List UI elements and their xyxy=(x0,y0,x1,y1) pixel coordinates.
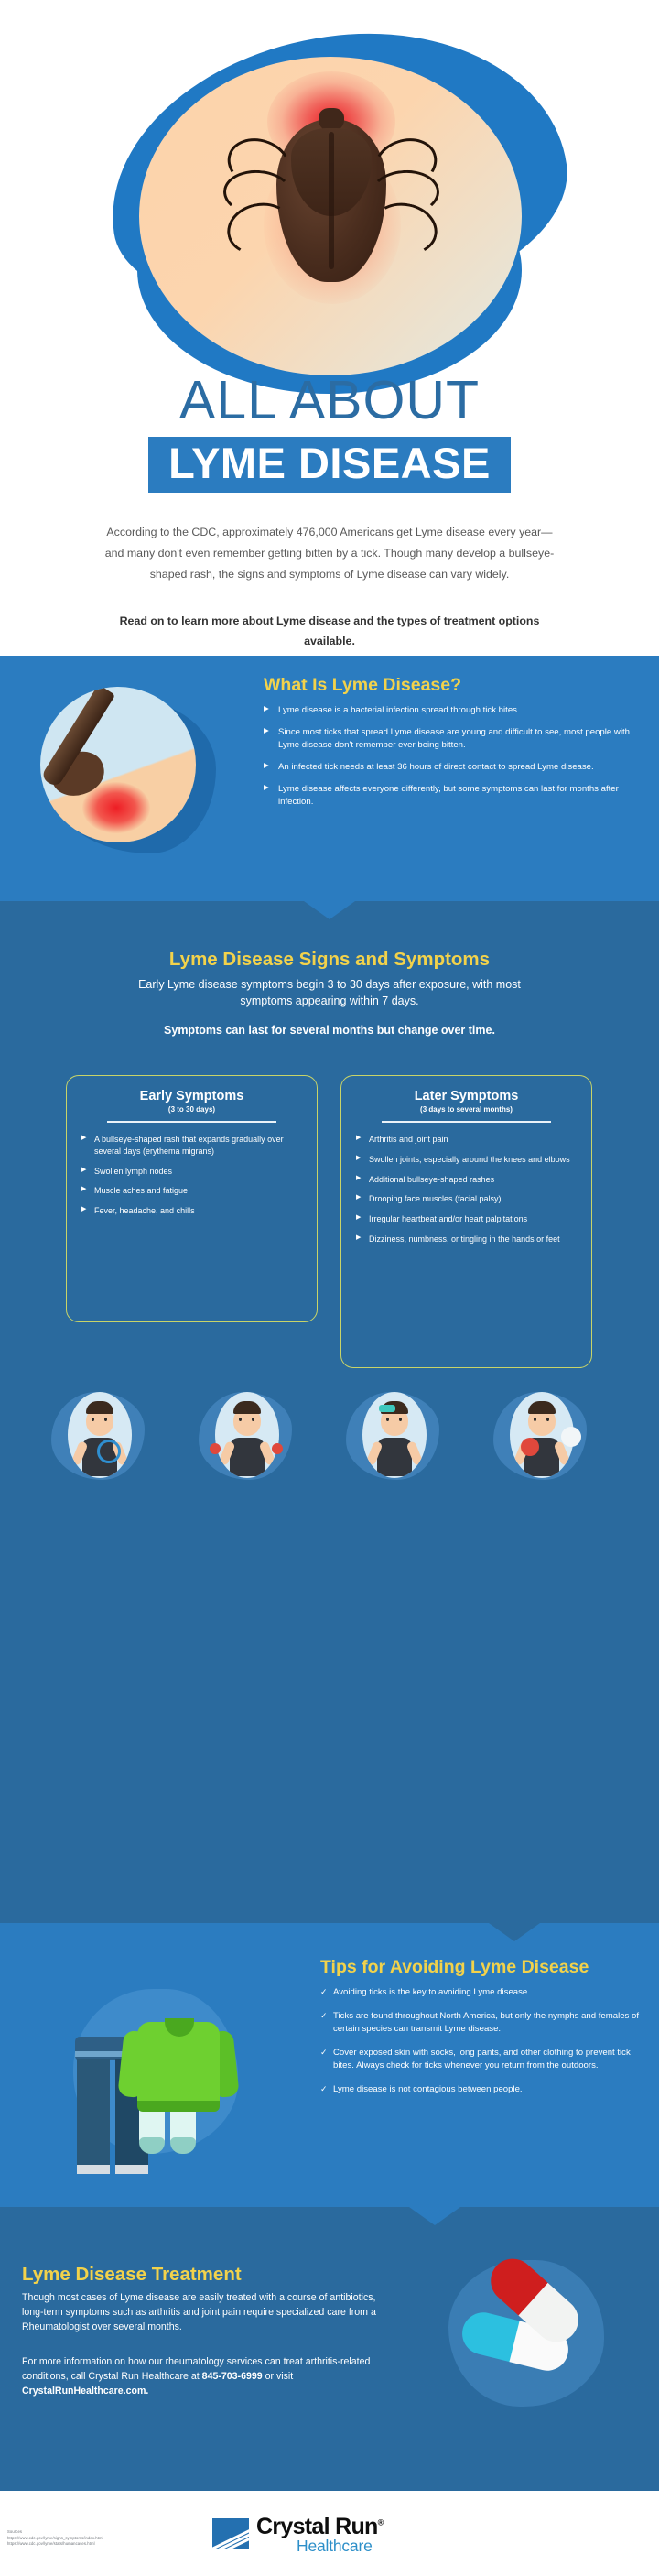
treatment-text-part1: For more information on how our rheumato… xyxy=(22,2356,370,2382)
tips-content: Tips for Avoiding Lyme Disease Avoiding … xyxy=(320,1956,641,2107)
section-divider-notch xyxy=(304,901,355,919)
page-title-line1: ALL ABOUT xyxy=(0,374,659,428)
list-item: Cover exposed skin with socks, long pant… xyxy=(320,2047,641,2072)
treatment-paragraph-1: Though most cases of Lyme disease are ea… xyxy=(22,2291,388,2335)
intro-call-to-action: Read on to learn more about Lyme disease… xyxy=(119,611,540,652)
person-headache-fever-icon xyxy=(342,1386,443,1487)
divider xyxy=(107,1121,276,1123)
logo-name-text: Crystal Run xyxy=(256,2514,378,2539)
medicine-capsules-icon xyxy=(430,2242,622,2434)
tips-list: Avoiding ticks is the key to avoiding Ly… xyxy=(320,1986,641,2095)
registered-trademark-icon: ® xyxy=(378,2518,384,2527)
treatment-phone-number[interactable]: 845-703-6999 xyxy=(202,2371,263,2382)
section-what-is-lyme-disease: What Is Lyme Disease? Lyme disease is a … xyxy=(0,656,659,901)
list-item: Since most ticks that spread Lyme diseas… xyxy=(264,726,630,752)
section-treatment: Lyme Disease Treatment Though most cases… xyxy=(0,2207,659,2491)
list-item: Irregular heartbeat and/or heart palpita… xyxy=(356,1213,577,1225)
tweezers-tick-illustration xyxy=(33,683,234,866)
page-title-line2: LYME DISEASE xyxy=(148,437,511,493)
list-item: Swollen lymph nodes xyxy=(81,1166,302,1178)
list-item: Ticks are found throughout North America… xyxy=(320,2010,641,2036)
later-symptoms-list: Arthritis and joint pain Swollen joints,… xyxy=(356,1134,577,1245)
early-symptoms-timeframe: (3 to 30 days) xyxy=(81,1105,302,1114)
list-item: Avoiding ticks is the key to avoiding Ly… xyxy=(320,1986,641,1999)
list-item: An infected tick needs at least 36 hours… xyxy=(264,761,630,774)
later-symptoms-title: Later Symptoms xyxy=(356,1089,577,1103)
list-item: Swollen joints, especially around the kn… xyxy=(356,1154,577,1166)
person-swollen-lymph-node-icon xyxy=(48,1386,148,1487)
section-heading-what-is: What Is Lyme Disease? xyxy=(264,674,630,696)
list-item: Arthritis and joint pain xyxy=(356,1134,577,1146)
symptoms-subhead: Early Lyme disease symptoms begin 3 to 3… xyxy=(124,976,535,1009)
list-item: Dizziness, numbness, or tingling in the … xyxy=(356,1234,577,1245)
intro-paragraph: According to the CDC, approximately 476,… xyxy=(101,522,558,585)
treatment-text-part2: or visit xyxy=(263,2371,294,2382)
footer: Sources https://www.cdc.gov/lyme/signs_s… xyxy=(0,2491,659,2576)
treatment-paragraph-2: For more information on how our rheumato… xyxy=(22,2355,395,2399)
list-item: Lyme disease is a bacterial infection sp… xyxy=(264,704,630,717)
tick-dorsal-stripe xyxy=(329,132,334,269)
what-is-content: What Is Lyme Disease? Lyme disease is a … xyxy=(264,674,630,818)
list-item: Additional bullseye-shaped rashes xyxy=(356,1174,577,1186)
later-symptoms-card: Later Symptoms (3 days to several months… xyxy=(340,1075,592,1368)
person-heart-palpitations-icon xyxy=(490,1386,590,1487)
treatment-website-link[interactable]: CrystalRunHealthcare.com. xyxy=(22,2386,148,2397)
list-item: Lyme disease is not contagious between p… xyxy=(320,2083,641,2096)
section-divider-notch xyxy=(409,2207,460,2225)
page-title-block: ALL ABOUT LYME DISEASE xyxy=(0,374,659,493)
section-divider-notch xyxy=(489,1923,540,1941)
person-joint-pain-icon xyxy=(195,1386,296,1487)
logo-mark-icon xyxy=(212,2518,249,2549)
early-symptoms-card: Early Symptoms (3 to 30 days) A bullseye… xyxy=(66,1075,318,1322)
list-item: A bullseye-shaped rash that expands grad… xyxy=(81,1134,302,1158)
section-heading-symptoms: Lyme Disease Signs and Symptoms xyxy=(0,949,659,971)
source-link-2[interactable]: https://www.cdc.gov/lyme/stats/humancase… xyxy=(7,2541,103,2548)
symptoms-bold-note: Symptoms can last for several months but… xyxy=(124,1022,535,1038)
long-sleeve-shirt-icon xyxy=(121,2016,236,2115)
list-item: Drooping face muscles (facial palsy) xyxy=(356,1193,577,1205)
sources-block: Sources https://www.cdc.gov/lyme/signs_s… xyxy=(7,2529,103,2548)
protective-clothing-illustration xyxy=(55,1978,293,2179)
divider xyxy=(382,1121,551,1123)
list-item: Lyme disease affects everyone differentl… xyxy=(264,783,630,809)
crystal-run-healthcare-logo[interactable]: Crystal Run® Healthcare xyxy=(212,2516,450,2559)
section-tips-avoiding: Tips for Avoiding Lyme Disease Avoiding … xyxy=(0,1923,659,2207)
section-heading-tips: Tips for Avoiding Lyme Disease xyxy=(320,1956,641,1978)
symptom-icon-row xyxy=(0,1386,659,1487)
list-item: Fever, headache, and chills xyxy=(81,1205,302,1217)
early-symptoms-title: Early Symptoms xyxy=(81,1089,302,1103)
section-heading-treatment: Lyme Disease Treatment xyxy=(22,2264,242,2286)
what-is-bullet-list: Lyme disease is a bacterial infection sp… xyxy=(264,704,630,808)
logo-subtitle: Healthcare xyxy=(297,2537,373,2556)
list-item: Muscle aches and fatigue xyxy=(81,1185,302,1197)
later-symptoms-timeframe: (3 days to several months) xyxy=(356,1105,577,1114)
section-signs-and-symptoms: Lyme Disease Signs and Symptoms Early Ly… xyxy=(0,901,659,1923)
illustration-circle xyxy=(40,687,196,842)
early-symptoms-list: A bullseye-shaped rash that expands grad… xyxy=(81,1134,302,1217)
